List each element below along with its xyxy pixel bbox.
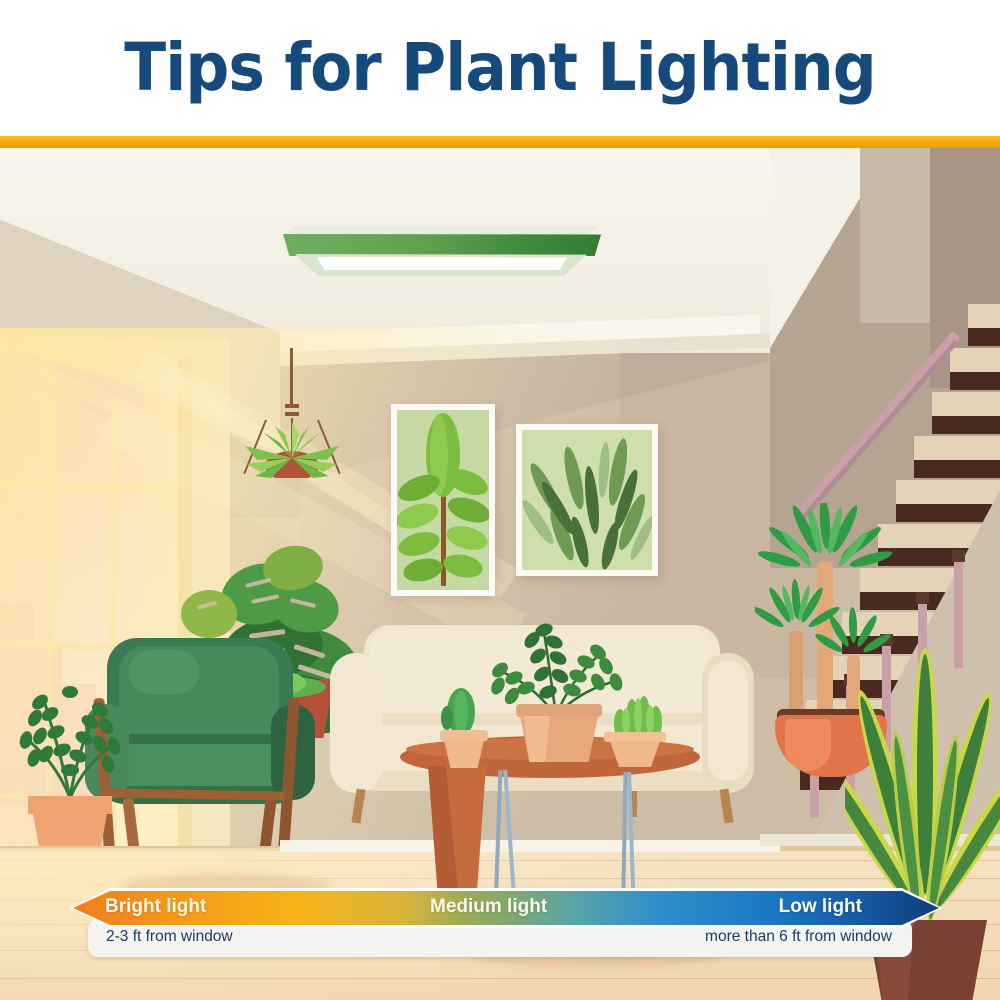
caption-bright-distance: 2-3 ft from window [106, 928, 233, 946]
botanical-art-left [391, 404, 495, 596]
light-front-face [283, 234, 601, 256]
legend-label-bright: Bright light [105, 896, 206, 918]
legend-label-low: Low light [779, 896, 862, 918]
infographic-root: Tips for Plant Lighting [0, 0, 1000, 1000]
grass-print-artwork [522, 430, 652, 570]
cactus-pot-body [444, 740, 484, 768]
cactus-pot-rim [440, 730, 488, 741]
hanging-spider-plant [235, 348, 355, 478]
ceiling-light-panel[interactable] [277, 226, 607, 274]
succulent-pot-rim [604, 732, 666, 742]
legend-label-medium: Medium light [430, 896, 547, 918]
botanical-art-right [516, 424, 658, 576]
header: Tips for Plant Lighting [0, 0, 1000, 136]
plant-light-distance-scale: 2-3 ft from window more than 6 ft from w… [0, 888, 1000, 958]
gradient-arrow: Bright light Medium light Low light [70, 888, 942, 928]
light-glow-strip [317, 257, 567, 270]
zz-plant-foliage [14, 648, 124, 808]
zz-pot-rim [28, 796, 112, 814]
light-top-face [285, 226, 599, 235]
living-room-illustration [0, 148, 1000, 1000]
page-title: Tips for Plant Lighting [124, 35, 876, 101]
tabletop-plants [440, 598, 670, 758]
leaf-print-artwork [397, 410, 489, 590]
main-pot-rim [516, 704, 602, 717]
accent-divider-bar [0, 136, 1000, 148]
zz-plant [14, 648, 124, 878]
cactus-foliage [438, 684, 484, 736]
spider-plant-foliage [235, 348, 355, 478]
caption-low-distance: more than 6 ft from window [705, 928, 892, 946]
